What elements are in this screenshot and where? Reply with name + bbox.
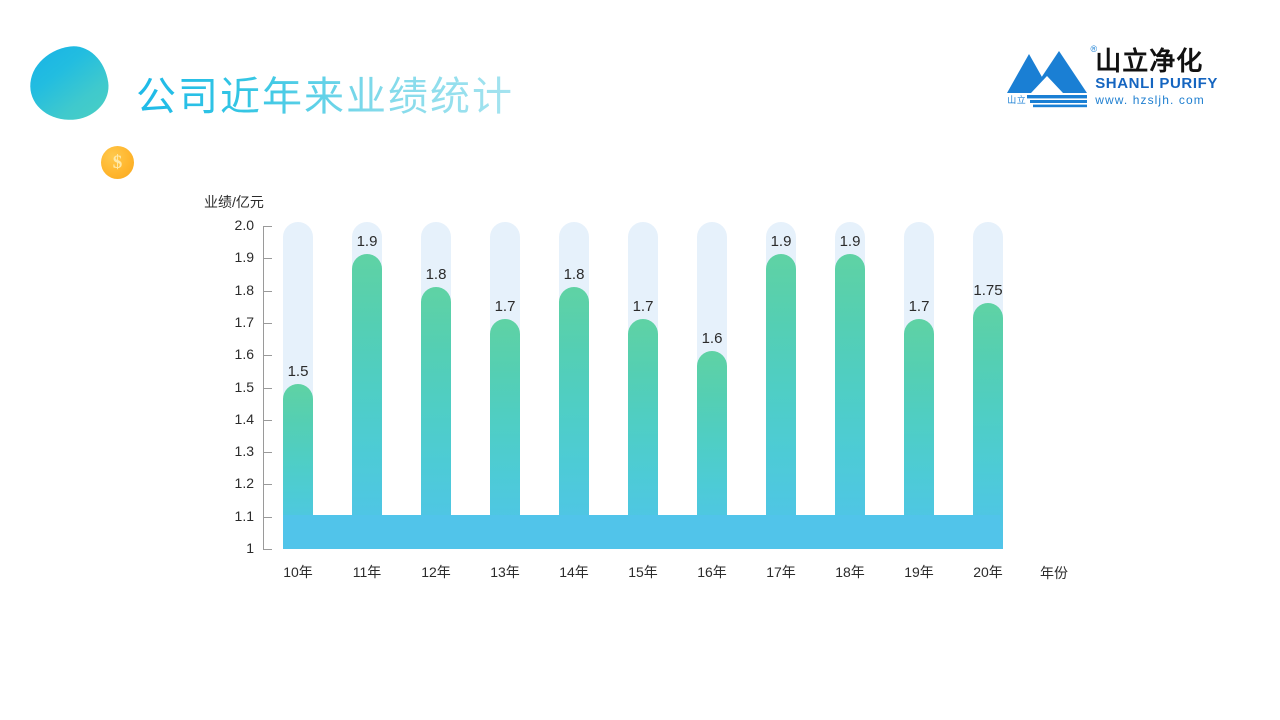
x-tick-label: 19年 — [889, 562, 949, 582]
bar-group[interactable]: 1.7 — [628, 222, 658, 549]
bar-value-label: 1.8 — [545, 266, 603, 283]
y-tick-mark — [263, 517, 272, 518]
x-tick-label: 10年 — [268, 562, 328, 582]
bar-fill — [352, 254, 382, 549]
x-tick-label: 13年 — [475, 562, 535, 582]
bar-value-label: 1.7 — [614, 298, 672, 315]
bar-fill — [973, 303, 1003, 549]
x-tick-label: 20年 — [958, 562, 1018, 582]
bar-fill — [559, 287, 589, 549]
x-tick-label: 17年 — [751, 562, 811, 582]
x-tick-label: 11年 — [337, 562, 397, 582]
performance-bar-chart: 业绩/亿元 年份 2.01.91.81.71.61.51.41.31.21.11… — [0, 0, 1280, 720]
bar-value-label: 1.9 — [821, 233, 879, 250]
y-tick-label: 1.9 — [214, 249, 254, 265]
y-tick-label: 2.0 — [214, 217, 254, 233]
bar-group[interactable]: 1.6 — [697, 222, 727, 549]
y-tick-label: 1.1 — [214, 508, 254, 524]
y-tick-label: 1.3 — [214, 443, 254, 459]
x-tick-label: 15年 — [613, 562, 673, 582]
y-tick-label: 1.8 — [214, 282, 254, 298]
y-tick-mark — [263, 484, 272, 485]
bar-group[interactable]: 1.8 — [559, 222, 589, 549]
bar-value-label: 1.9 — [752, 233, 810, 250]
bar-group[interactable]: 1.8 — [421, 222, 451, 549]
bar-group[interactable]: 1.75 — [973, 222, 1003, 549]
x-tick-label: 16年 — [682, 562, 742, 582]
bar-group[interactable]: 1.7 — [904, 222, 934, 549]
y-tick-mark — [263, 323, 272, 324]
plot-area: 1.51.91.81.71.81.71.61.91.91.71.75 — [283, 222, 1000, 549]
bar-group[interactable]: 1.9 — [766, 222, 796, 549]
y-tick-mark — [263, 355, 272, 356]
y-tick-mark — [263, 452, 272, 453]
bar-fill — [421, 287, 451, 549]
y-tick-label: 1.4 — [214, 411, 254, 427]
bar-value-label: 1.8 — [407, 266, 465, 283]
y-tick-label: 1.5 — [214, 379, 254, 395]
bar-group[interactable]: 1.9 — [835, 222, 865, 549]
x-tick-label: 12年 — [406, 562, 466, 582]
bar-value-label: 1.6 — [683, 330, 741, 347]
y-tick-label: 1 — [214, 540, 254, 556]
bar-fill — [766, 254, 796, 549]
bar-value-label: 1.7 — [890, 298, 948, 315]
y-tick-mark — [263, 420, 272, 421]
bar-base-band — [283, 515, 1000, 549]
bar-value-label: 1.75 — [959, 282, 1017, 299]
x-axis-title: 年份 — [1040, 563, 1068, 583]
y-tick-mark — [263, 388, 272, 389]
bar-value-label: 1.5 — [269, 363, 327, 380]
y-tick-mark — [263, 226, 272, 227]
bar-fill — [835, 254, 865, 549]
bar-group[interactable]: 1.7 — [490, 222, 520, 549]
x-tick-label: 14年 — [544, 562, 604, 582]
slide-canvas: $ 公司近年来业绩统计 ® 山立 山立净化 SHANLI PURIFY www.… — [0, 0, 1280, 720]
y-tick-label: 1.7 — [214, 314, 254, 330]
bar-group[interactable]: 1.5 — [283, 222, 313, 549]
y-tick-label: 1.6 — [214, 346, 254, 362]
bar-group[interactable]: 1.9 — [352, 222, 382, 549]
y-tick-mark — [263, 258, 272, 259]
bar-value-label: 1.7 — [476, 298, 534, 315]
y-axis-title: 业绩/亿元 — [204, 192, 264, 212]
x-tick-label: 18年 — [820, 562, 880, 582]
bar-value-label: 1.9 — [338, 233, 396, 250]
y-tick-mark — [263, 549, 272, 550]
y-tick-mark — [263, 291, 272, 292]
y-tick-label: 1.2 — [214, 475, 254, 491]
